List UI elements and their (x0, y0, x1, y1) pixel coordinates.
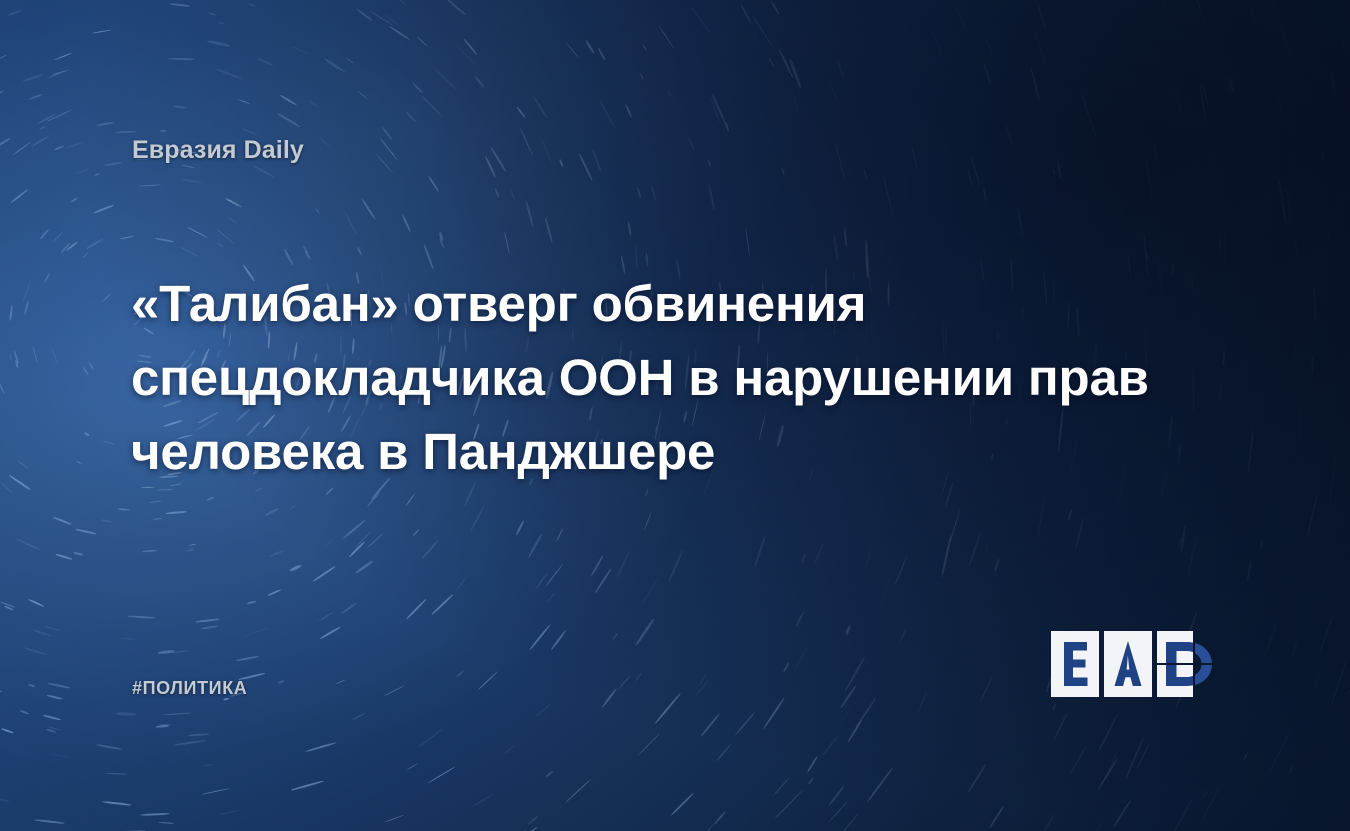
news-card: Евразия Daily «Талибан» отверг обвинения… (0, 0, 1350, 831)
logo-tile-e (1051, 631, 1099, 697)
logo-tile-d-bottomleft (1157, 665, 1193, 697)
ead-logo (1051, 631, 1231, 697)
logo-tile-d (1157, 631, 1231, 697)
logo-tile-d-topleft (1157, 631, 1193, 663)
headline-title: «Талибан» отверг обвинения спецдокладчик… (131, 267, 1241, 489)
category-hashtag: #ПОЛИТИКА (132, 678, 247, 699)
logo-tile-d-bottomright (1195, 665, 1231, 697)
card-content: Евразия Daily «Талибан» отверг обвинения… (0, 0, 1350, 831)
logo-tile-d-topright (1195, 631, 1231, 663)
logo-tile-a (1104, 631, 1152, 697)
brand-name: Евразия Daily (132, 136, 304, 165)
